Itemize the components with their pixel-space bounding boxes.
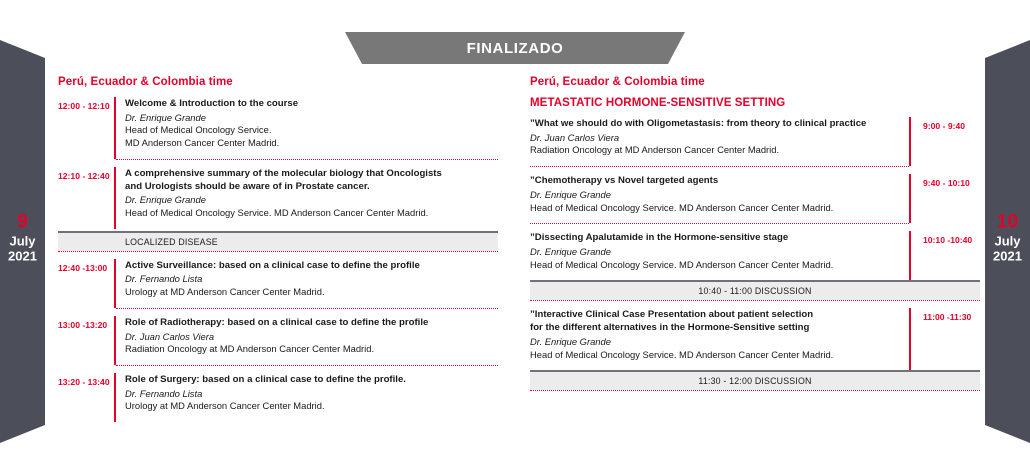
session-row: ”What we should do with Oligometastasis:… [530,117,980,166]
session-speaker: Dr. Enrique Grande [125,112,498,125]
session-title: and Urologists should be aware of in Pro… [125,181,498,194]
section-heading-metastatic: METASTATIC HORMONE-SENSITIVE SETTING [530,97,980,109]
session-body: ”Interactive Clinical Case Presentation … [530,308,909,370]
session-title: Role of Radiotherapy: based on a clinica… [125,317,498,330]
agenda-column-day-10: Perú, Ecuador & Colombia time METASTATIC… [530,76,980,391]
session-speaker: Dr. Enrique Grande [530,336,900,349]
session-rule [114,167,116,229]
session-rule [114,316,116,365]
session-body: ”What we should do with Oligometastasis:… [530,117,909,166]
session-rule [114,97,116,159]
session-title: Role of Surgery: based on a clinical cas… [125,374,498,387]
session-body: A comprehensive summary of the molecular… [125,167,498,229]
session-affiliation: Head of Medical Oncology Service. MD And… [125,207,498,220]
timezone-heading-left: Perú, Ecuador & Colombia time [58,76,498,88]
session-affiliation: Head of Medical Oncology Service. [125,124,498,137]
session-title: ”Dissecting Apalutamide in the Hormone-s… [530,232,900,245]
session-title: ”What we should do with Oligometastasis:… [530,118,900,131]
session-body: Active Surveillance: based on a clinical… [125,259,498,308]
session-title: ”Interactive Clinical Case Presentation … [530,309,900,322]
session-speaker: Dr. Enrique Grande [530,246,900,259]
session-row: ”Interactive Clinical Case Presentation … [530,301,980,370]
day-tab-left-day: 9 [0,211,45,233]
session-time: 11:00 -11:30 [911,308,995,370]
day-tab-left-content: 9 July 2021 [0,211,50,264]
session-row: 13:20 - 13:40 Role of Surgery: based on … [58,366,498,422]
session-speaker: Dr. Enrique Grande [530,189,900,202]
discussion-bar: 11:30 - 12:00 DISCUSSION [530,370,980,390]
discussion-bar: 10:40 - 11:00 DISCUSSION [530,280,980,300]
session-rule [114,373,116,422]
day-tab-left-month: July [0,233,45,248]
session-time: 13:20 - 13:40 [58,373,114,422]
session-rule [114,259,116,308]
session-body: Role of Surgery: based on a clinical cas… [125,373,498,422]
session-separator [530,390,980,391]
session-affiliation: Head of Medical Oncology Service. MD And… [530,202,900,215]
session-time: 13:00 -13:20 [58,316,114,365]
session-speaker: Dr. Fernando Lista [125,388,498,401]
session-body: ”Dissecting Apalutamide in the Hormone-s… [530,231,909,280]
status-badge: FINALIZADO [467,40,564,57]
session-speaker: Dr. Juan Carlos Viera [125,331,498,344]
day-tab-left-year: 2021 [0,249,45,264]
timezone-heading-right: Perú, Ecuador & Colombia time [530,76,980,88]
session-time: 12:10 - 12:40 [58,167,114,229]
session-speaker: Dr. Juan Carlos Viera [530,132,900,145]
session-time: 10:10 -10:40 [911,231,995,280]
session-time: 12:00 - 12:10 [58,97,114,159]
session-row: 12:40 -13:00 Active Surveillance: based … [58,252,498,308]
session-speaker: Dr. Enrique Grande [125,194,498,207]
status-banner: FINALIZADO [345,32,685,64]
agenda-column-day-9: Perú, Ecuador & Colombia time 12:00 - 12… [58,76,498,422]
session-affiliation: Urology at MD Anderson Cancer Center Mad… [125,286,498,299]
session-row: 12:00 - 12:10 Welcome & Introduction to … [58,97,498,159]
session-time: 9:40 - 10:10 [911,174,995,223]
session-title: A comprehensive summary of the molecular… [125,168,498,181]
session-row: ”Dissecting Apalutamide in the Hormone-s… [530,224,980,280]
session-affiliation: Head of Medical Oncology Service. MD And… [530,259,900,272]
session-title: for the different alternatives in the Ho… [530,322,900,335]
session-body: Welcome & Introduction to the course Dr.… [125,97,498,159]
session-title: Welcome & Introduction to the course [125,98,498,111]
session-title: ”Chemotherapy vs Novel targeted agents [530,175,900,188]
session-row: 13:00 -13:20 Role of Radiotherapy: based… [58,309,498,365]
session-row: ”Chemotherapy vs Novel targeted agents D… [530,167,980,223]
session-affiliation: Radiation Oncology at MD Anderson Cancer… [530,144,900,157]
category-bar-localized-disease: LOCALIZED DISEASE [58,231,498,251]
session-body: Role of Radiotherapy: based on a clinica… [125,316,498,365]
session-affiliation: Urology at MD Anderson Cancer Center Mad… [125,400,498,413]
session-title: Active Surveillance: based on a clinical… [125,260,498,273]
session-affiliation: Radiation Oncology at MD Anderson Cancer… [125,343,498,356]
session-affiliation: MD Anderson Cancer Center Madrid. [125,137,498,150]
session-speaker: Dr. Fernando Lista [125,273,498,286]
session-body: ”Chemotherapy vs Novel targeted agents D… [530,174,909,223]
session-row: 12:10 - 12:40 A comprehensive summary of… [58,160,498,229]
session-affiliation: Head of Medical Oncology Service. MD And… [530,349,900,362]
session-time: 12:40 -13:00 [58,259,114,308]
day-tab-left: 9 July 2021 [0,30,50,445]
session-time: 9:00 - 9:40 [911,117,995,166]
